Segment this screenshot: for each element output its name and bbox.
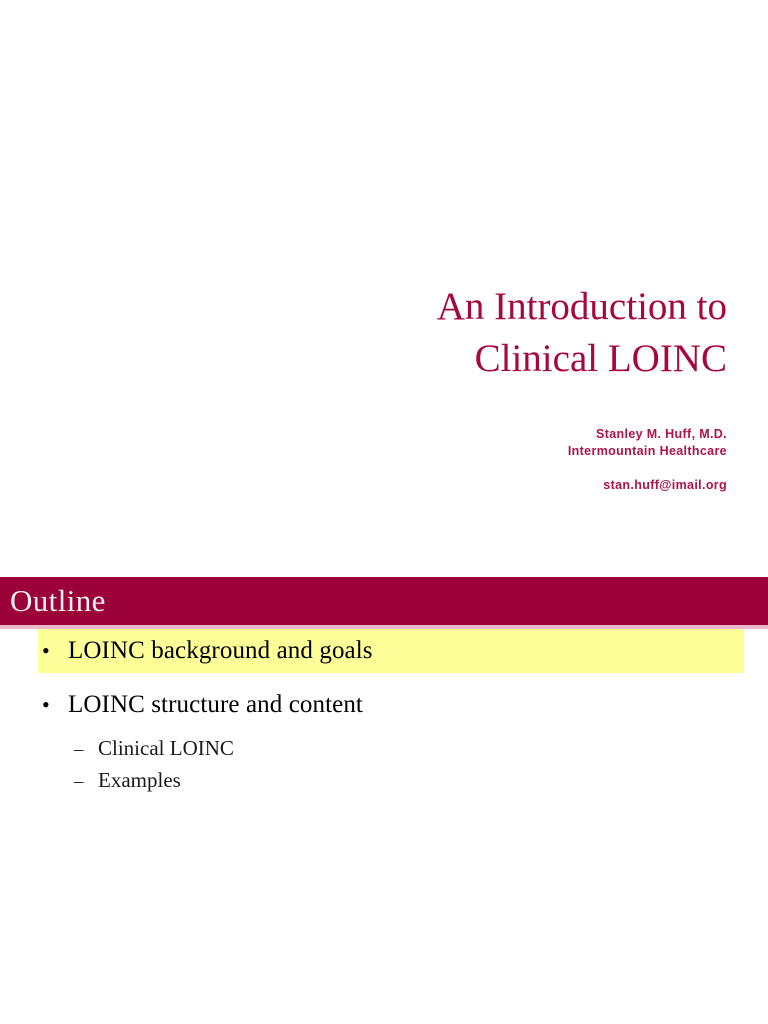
outline-subbullet-label: Examples <box>98 767 181 794</box>
outline-header-bar: Outline <box>0 577 768 625</box>
slide-page: An Introduction to Clinical LOINC Stanle… <box>0 0 768 1024</box>
author-email[interactable]: stan.huff@imail.org <box>207 477 727 494</box>
dash-marker-icon: – <box>74 736 98 763</box>
bullet-spacer <box>0 673 768 683</box>
author-block: Stanley M. Huff, M.D. Intermountain Heal… <box>207 426 727 494</box>
title-slide: An Introduction to Clinical LOINC Stanle… <box>0 0 768 577</box>
title-line-1: An Introduction to <box>167 281 727 333</box>
presentation-title: An Introduction to Clinical LOINC <box>167 281 727 385</box>
outline-subbullet-item[interactable]: – Examples <box>74 765 768 797</box>
outline-subbullet-label: Clinical LOINC <box>98 735 234 762</box>
outline-header-title: Outline <box>10 581 106 621</box>
bullet-marker-icon: • <box>42 690 68 720</box>
outline-slide: Outline • LOINC background and goals • L… <box>0 577 768 1024</box>
outline-bullet-label: LOINC structure and content <box>68 690 363 720</box>
author-name: Stanley M. Huff, M.D. <box>207 426 727 443</box>
outline-bullet-list: • LOINC background and goals • LOINC str… <box>0 629 768 797</box>
outline-subbullet-item[interactable]: – Clinical LOINC <box>74 733 768 765</box>
outline-bullet-label: LOINC background and goals <box>68 636 373 666</box>
outline-bullet-item[interactable]: • LOINC structure and content <box>42 683 768 727</box>
title-line-2: Clinical LOINC <box>167 333 727 385</box>
outline-bullet-item[interactable]: • LOINC background and goals <box>38 629 744 673</box>
author-affiliation: Intermountain Healthcare <box>207 443 727 460</box>
dash-marker-icon: – <box>74 768 98 795</box>
bullet-marker-icon: • <box>42 636 68 666</box>
